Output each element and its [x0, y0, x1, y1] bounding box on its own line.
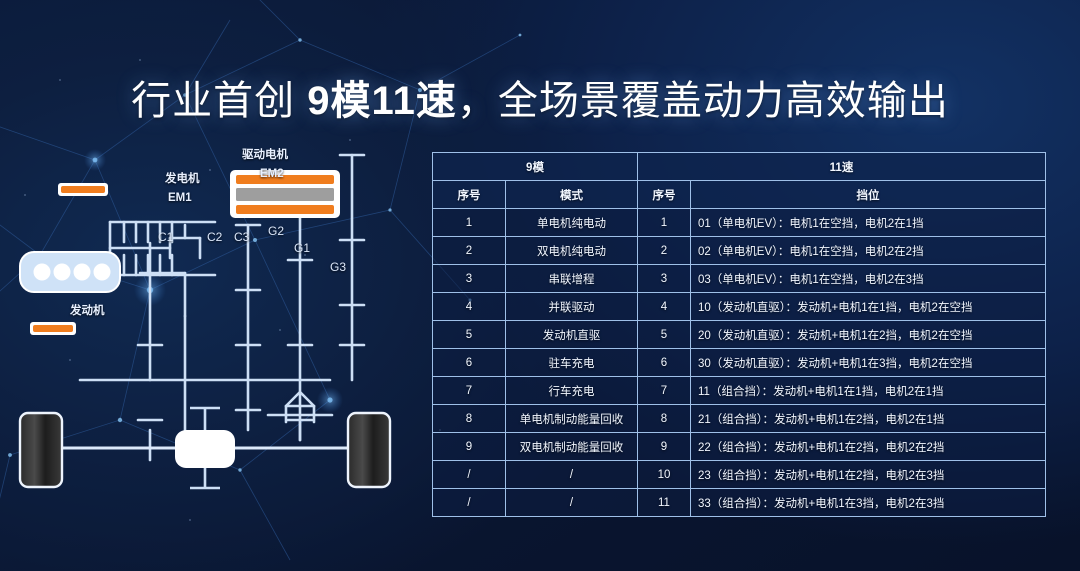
mode-gear-table: 9模 11速 序号 模式 序号 挡位 1 单电机纯电动 1 01（单电机EV）：… [432, 152, 1046, 517]
table-row: / / 10 23（组合挡）：发动机+电机1在2挡，电机2在3挡 [433, 461, 1046, 489]
table-row: 5 发动机直驱 5 20（发动机直驱）：发动机+电机1在2挡，电机2在空挡 [433, 321, 1046, 349]
table-group-header-row: 9模 11速 [433, 153, 1046, 181]
column-header-mode-no: 序号 [433, 181, 506, 209]
cell-gear-no: 9 [638, 433, 691, 461]
column-header-gear: 挡位 [691, 181, 1046, 209]
cell-gear: 20（发动机直驱）：发动机+电机1在2挡，电机2在空挡 [691, 321, 1046, 349]
gear-g2-label: G2 [268, 224, 284, 238]
cell-mode: 行车充电 [506, 377, 638, 405]
drive-motor-code-label: EM2 [260, 168, 284, 180]
cell-gear-no: 8 [638, 405, 691, 433]
cell-mode-no: 5 [433, 321, 506, 349]
cell-mode-no: 6 [433, 349, 506, 377]
cell-mode-no: 7 [433, 377, 506, 405]
table-row: 9 双电机制动能量回收 9 22（组合挡）：发动机+电机1在2挡，电机2在2挡 [433, 433, 1046, 461]
cell-gear-no: 6 [638, 349, 691, 377]
cell-gear-no: 4 [638, 293, 691, 321]
table-column-header-row: 序号 模式 序号 挡位 [433, 181, 1046, 209]
cell-gear: 33（组合挡）：发动机+电机1在3挡，电机2在3挡 [691, 489, 1046, 517]
cell-gear-no: 5 [638, 321, 691, 349]
cell-mode: 串联增程 [506, 265, 638, 293]
cell-gear-no: 11 [638, 489, 691, 517]
cell-mode: 并联驱动 [506, 293, 638, 321]
drive-motor-label: 驱动电机 [242, 146, 288, 162]
cell-gear-no: 1 [638, 209, 691, 237]
column-header-mode: 模式 [506, 181, 638, 209]
cell-mode: 双电机制动能量回收 [506, 433, 638, 461]
table-row: 7 行车充电 7 11（组合挡）：发动机+电机1在1挡，电机2在1挡 [433, 377, 1046, 405]
engine-label: 发动机 [70, 302, 105, 318]
group-header-modes: 9模 [433, 153, 638, 181]
gear-g3-label: G3 [330, 260, 346, 274]
title-lead: 行业首创 [131, 79, 307, 123]
cell-mode-no: 9 [433, 433, 506, 461]
cell-gear: 02（单电机EV）：电机1在空挡，电机2在2挡 [691, 237, 1046, 265]
cell-mode-no: 8 [433, 405, 506, 433]
cell-gear: 11（组合挡）：发动机+电机1在1挡，电机2在1挡 [691, 377, 1046, 405]
generator-label: 发电机 [165, 170, 200, 186]
cell-mode-no: 1 [433, 209, 506, 237]
title-highlight: 9模11速 [307, 79, 457, 123]
page-title: 行业首创 9模11速，全场景覆盖动力高效输出 [0, 68, 1080, 126]
cell-gear: 23（组合挡）：发动机+电机1在2挡，电机2在3挡 [691, 461, 1046, 489]
table-row: 8 单电机制动能量回收 8 21（组合挡）：发动机+电机1在2挡，电机2在1挡 [433, 405, 1046, 433]
cell-gear: 01（单电机EV）：电机1在空挡，电机2在1挡 [691, 209, 1046, 237]
table-row: 2 双电机纯电动 2 02（单电机EV）：电机1在空挡，电机2在2挡 [433, 237, 1046, 265]
gear-g1-label: G1 [294, 241, 310, 255]
cell-mode: / [506, 489, 638, 517]
table-row: 6 驻车充电 6 30（发动机直驱）：发动机+电机1在3挡，电机2在空挡 [433, 349, 1046, 377]
drive-axle [20, 408, 390, 488]
cell-gear-no: 2 [638, 237, 691, 265]
cell-gear: 21（组合挡）：发动机+电机1在2挡，电机2在1挡 [691, 405, 1046, 433]
cell-mode-no: 4 [433, 293, 506, 321]
clutch-c3-label: C3 [234, 230, 249, 244]
cell-mode-no: / [433, 489, 506, 517]
table-row: 1 单电机纯电动 1 01（单电机EV）：电机1在空挡，电机2在1挡 [433, 209, 1046, 237]
cell-gear: 22（组合挡）：发动机+电机1在2挡，电机2在2挡 [691, 433, 1046, 461]
powertrain-diagram: 发电机 EM1 驱动电机 EM2 C1 C2 C3 G2 G1 G3 发动机 鲲… [0, 130, 430, 520]
generator-code-label: EM1 [168, 192, 192, 204]
drive-motor-body [230, 170, 340, 218]
cell-mode: / [506, 461, 638, 489]
cell-gear-no: 10 [638, 461, 691, 489]
cell-gear: 03（单电机EV）：电机1在空挡，电机2在3挡 [691, 265, 1046, 293]
column-header-gear-no: 序号 [638, 181, 691, 209]
group-header-speeds: 11速 [638, 153, 1046, 181]
cell-mode: 单电机制动能量回收 [506, 405, 638, 433]
clutch-c1-label: C1 [158, 230, 173, 244]
presentation-slide: 行业首创 9模11速，全场景覆盖动力高效输出 [0, 0, 1080, 571]
cell-mode-no: 2 [433, 237, 506, 265]
powertrain-schematic [0, 130, 430, 520]
title-tail: ，全场景覆盖动力高效输出 [457, 79, 949, 123]
cell-mode: 驻车充电 [506, 349, 638, 377]
cell-mode: 双电机纯电动 [506, 237, 638, 265]
clutch-c2-label: C2 [207, 230, 222, 244]
cell-gear-no: 7 [638, 377, 691, 405]
cell-gear-no: 3 [638, 265, 691, 293]
engine-block [20, 252, 120, 292]
table-row: 3 串联增程 3 03（单电机EV）：电机1在空挡，电机2在3挡 [433, 265, 1046, 293]
spec-table-container: 9模 11速 序号 模式 序号 挡位 1 单电机纯电动 1 01（单电机EV）：… [432, 152, 1045, 517]
cell-mode-no: / [433, 461, 506, 489]
table-row: / / 11 33（组合挡）：发动机+电机1在3挡，电机2在3挡 [433, 489, 1046, 517]
cell-mode: 发动机直驱 [506, 321, 638, 349]
generator-rotor [30, 322, 76, 335]
cell-gear: 10（发动机直驱）：发动机+电机1在1挡，电机2在空挡 [691, 293, 1046, 321]
cell-gear: 30（发动机直驱）：发动机+电机1在3挡，电机2在空挡 [691, 349, 1046, 377]
table-row: 4 并联驱动 4 10（发动机直驱）：发动机+电机1在1挡，电机2在空挡 [433, 293, 1046, 321]
cell-mode: 单电机纯电动 [506, 209, 638, 237]
generator-body [58, 183, 108, 196]
cell-mode-no: 3 [433, 265, 506, 293]
